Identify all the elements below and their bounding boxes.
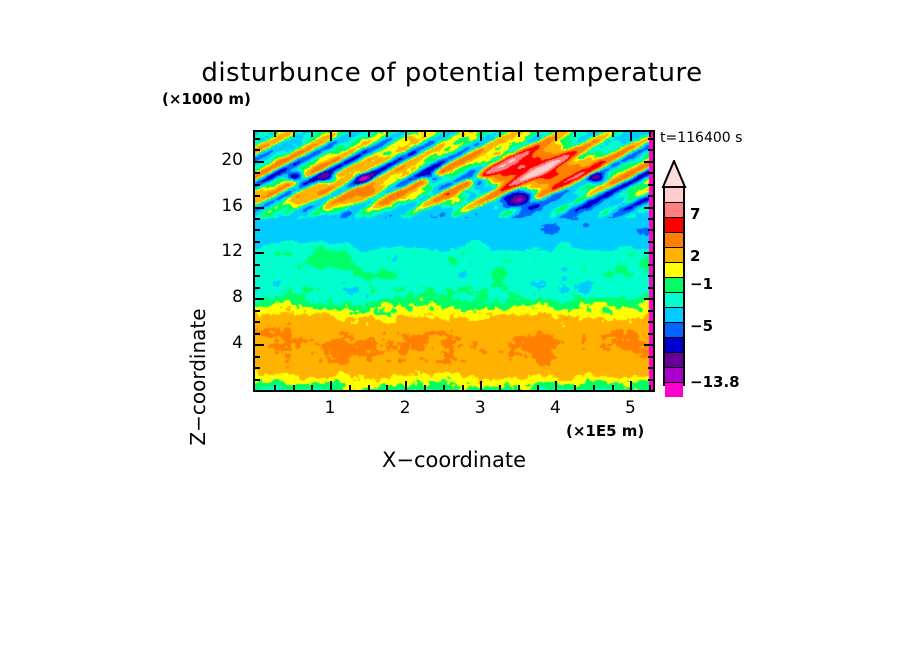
y-tick-label: 20 — [203, 150, 243, 170]
tick-mark — [648, 321, 653, 323]
tick-mark — [648, 149, 653, 151]
tick-mark — [648, 367, 653, 369]
tick-mark — [293, 132, 295, 137]
tick-mark — [405, 381, 407, 390]
tick-mark — [255, 321, 260, 323]
tick-mark — [255, 344, 264, 346]
tick-mark — [443, 385, 445, 390]
tick-mark — [644, 207, 653, 209]
tick-mark — [462, 132, 464, 137]
x-tick-label: 4 — [535, 398, 575, 418]
tick-mark — [648, 138, 653, 140]
tick-mark — [349, 385, 351, 390]
tick-mark — [368, 385, 370, 390]
tick-mark — [648, 229, 653, 231]
tick-mark — [630, 132, 632, 141]
tick-mark — [462, 385, 464, 390]
tick-mark — [311, 385, 313, 390]
tick-mark — [644, 298, 653, 300]
tick-mark — [648, 241, 653, 243]
tick-mark — [649, 385, 651, 390]
tick-mark — [518, 132, 520, 137]
tick-mark — [255, 275, 260, 277]
tick-mark — [330, 381, 332, 390]
x-tick-label: 3 — [460, 398, 500, 418]
tick-mark — [255, 379, 260, 381]
colorbar-arrow-icon — [661, 160, 687, 188]
tick-mark — [555, 381, 557, 390]
colorbar-tick-label: 7 — [690, 205, 700, 223]
tick-mark — [349, 132, 351, 137]
tick-mark — [612, 132, 614, 137]
colorbar-band — [665, 338, 683, 353]
tick-mark — [255, 241, 260, 243]
page-title: disturbunce of potential temperature — [0, 58, 904, 88]
tick-mark — [648, 333, 653, 335]
tick-mark — [255, 264, 260, 266]
colorbar-band — [665, 308, 683, 323]
tick-mark — [274, 385, 276, 390]
tick-mark — [574, 132, 576, 137]
tick-mark — [648, 379, 653, 381]
tick-mark — [255, 184, 260, 186]
tick-mark — [537, 132, 539, 137]
tick-mark — [648, 275, 653, 277]
tick-mark — [648, 264, 653, 266]
tick-mark — [255, 333, 260, 335]
y-tick-label: 12 — [203, 241, 243, 261]
tick-mark — [612, 385, 614, 390]
colorbar-band — [665, 203, 683, 218]
tick-mark — [255, 356, 260, 358]
tick-mark — [555, 132, 557, 141]
tick-mark — [255, 229, 260, 231]
x-axis-title: X−coordinate — [253, 448, 655, 472]
tick-mark — [648, 172, 653, 174]
z-unit-label: (×1000 m) — [162, 90, 251, 108]
y-axis-title: Z−coordinate — [186, 267, 210, 487]
colorbar — [663, 186, 685, 386]
tick-mark — [574, 385, 576, 390]
tick-mark — [630, 381, 632, 390]
contour-plot — [253, 130, 655, 392]
tick-mark — [368, 132, 370, 137]
tick-mark — [499, 385, 501, 390]
contour-canvas — [255, 132, 653, 390]
tick-mark — [648, 195, 653, 197]
tick-mark — [648, 184, 653, 186]
colorbar-tick-label: −1 — [690, 275, 713, 293]
tick-mark — [386, 132, 388, 137]
tick-mark — [255, 252, 264, 254]
colorbar-band — [665, 248, 683, 263]
tick-mark — [518, 385, 520, 390]
tick-mark — [593, 132, 595, 137]
y-tick-label: 16 — [203, 196, 243, 216]
tick-mark — [644, 161, 653, 163]
colorbar-band — [665, 233, 683, 248]
tick-mark — [386, 385, 388, 390]
tick-mark — [649, 132, 651, 137]
colorbar-tick-label: 2 — [690, 247, 700, 265]
tick-mark — [255, 195, 260, 197]
tick-mark — [424, 132, 426, 137]
tick-mark — [480, 132, 482, 141]
colorbar-band — [665, 323, 683, 338]
y-axis-title-wrap: Z−coordinate — [100, 150, 140, 370]
colorbar-tick-label: −5 — [690, 317, 713, 335]
x-tick-label: 5 — [610, 398, 650, 418]
tick-mark — [255, 310, 260, 312]
tick-mark — [255, 172, 260, 174]
tick-mark — [330, 132, 332, 141]
tick-mark — [648, 287, 653, 289]
tick-mark — [255, 287, 260, 289]
tick-mark — [255, 138, 260, 140]
colorbar-band — [665, 218, 683, 233]
colorbar-band — [665, 293, 683, 308]
x-tick-label: 2 — [385, 398, 425, 418]
tick-mark — [480, 381, 482, 390]
colorbar-band — [665, 188, 683, 203]
tick-mark — [593, 385, 595, 390]
tick-mark — [405, 132, 407, 141]
tick-mark — [293, 385, 295, 390]
tick-mark — [424, 385, 426, 390]
tick-mark — [443, 132, 445, 137]
tick-mark — [644, 344, 653, 346]
colorbar-band — [665, 263, 683, 278]
timestamp-label: t=116400 s — [660, 130, 742, 146]
tick-mark — [255, 149, 260, 151]
colorbar-band — [665, 368, 683, 383]
tick-mark — [255, 367, 260, 369]
colorbar-band — [665, 278, 683, 293]
tick-mark — [537, 385, 539, 390]
tick-mark — [499, 132, 501, 137]
tick-mark — [255, 218, 260, 220]
tick-mark — [274, 132, 276, 137]
tick-mark — [648, 310, 653, 312]
colorbar-band — [665, 353, 683, 368]
tick-mark — [311, 132, 313, 137]
colorbar-band — [665, 383, 683, 397]
x-unit-label: (×1E5 m) — [566, 422, 644, 440]
tick-mark — [255, 161, 264, 163]
tick-mark — [255, 298, 264, 300]
x-tick-label: 1 — [310, 398, 350, 418]
tick-mark — [648, 356, 653, 358]
tick-mark — [648, 218, 653, 220]
tick-mark — [644, 252, 653, 254]
tick-mark — [255, 207, 264, 209]
colorbar-tick-label: −13.8 — [690, 373, 740, 391]
